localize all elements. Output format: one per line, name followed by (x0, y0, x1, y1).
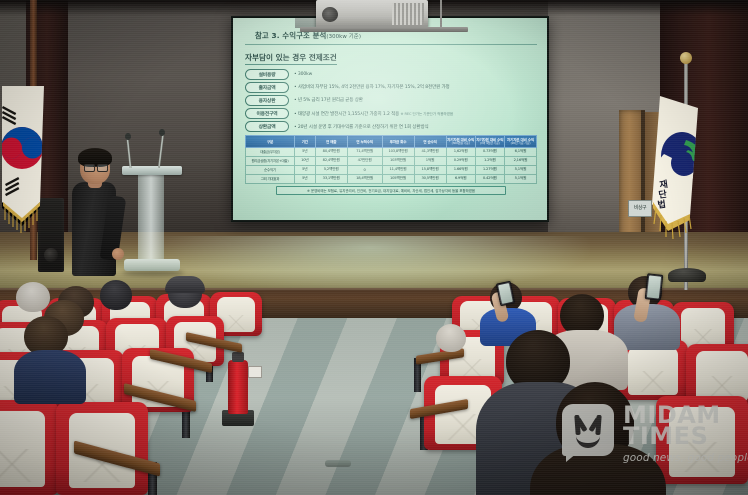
projector-lens-icon (322, 7, 338, 22)
table-cell: 대출금(무자본) (246, 147, 295, 156)
table-cell: 103,8백만원 (382, 147, 414, 156)
logo-m-glyph (573, 415, 603, 445)
table-row: 원리금상환(자기자본+대출) 10년 82,4백만원 47만단원 103백만원 … (246, 156, 537, 165)
person-head (436, 324, 466, 352)
logo-smile-icon (576, 430, 600, 448)
bullet-tag: 융자상환 (245, 95, 289, 106)
table-row: 대출금(무자본) 5년 80,4백만원 71,4백만원 103,8백만원 41,… (246, 147, 537, 156)
table-header-cell: 자기자본 대비 수익(20년 기준 기준) (504, 136, 536, 148)
table-cell: 71,4백만원 (347, 147, 382, 156)
bullet-text: • 태양광 시설 연간 발전시간 1,155시간 가중치 1.2 적용 ※ RE… (294, 111, 453, 117)
microphone-icon (125, 133, 131, 140)
table-cell: 1.27억원 (475, 165, 504, 174)
podium (122, 166, 182, 278)
bullet-text: • 년 5% 금리 17년 원리금 균등 상환 (294, 97, 363, 103)
table-cell: 원리금상환(자기자본+대출) (246, 156, 295, 165)
bullet-text: • 300kw (294, 72, 312, 77)
table-row: 순수익기 5년 5,2백만원 0 11,4백만원 15,8백만원 1.66억원 … (246, 165, 537, 174)
bullet-text-main: • 태양광 시설 연간 발전시간 1,155시간 가중치 1.2 적용 (294, 112, 399, 117)
table-cell: 2,16억원 (504, 156, 536, 165)
auditorium-photo: 비상구 참고 3. 수익구조 분석(300kw 기준) 자부담이 있는 경우 전… (0, 0, 748, 495)
table-row: 그외 기대효과 5년 33,1백만원 18,4백만원 105백만원 30,5백만… (246, 174, 537, 183)
table-header-cell: 연 매출 (315, 136, 347, 148)
flag-finial (680, 52, 692, 64)
slide-title-paren: (300kw 기준) (326, 34, 361, 40)
table-cell: 5년 (294, 147, 315, 156)
table-cell: 80,4백만원 (315, 147, 347, 156)
table-cell: 0 (347, 165, 382, 174)
person-head (100, 280, 132, 310)
watermark-line2: TIMES (623, 426, 748, 447)
table-cell: 0.73억원 (475, 147, 504, 156)
bullet-tag: 설비용량 (245, 69, 289, 80)
baseball-cap-icon (165, 276, 205, 293)
podium-base (124, 259, 180, 271)
slide-data-table: 구분 기간 연 매출 연 누적수익 투자금 회수 연 순수익 자기자본 대비 수… (245, 135, 537, 184)
flag-stand-base (668, 268, 706, 282)
table-cell: 5,1억원 (504, 165, 536, 174)
table-cell: 5년 (294, 174, 315, 183)
bullet-row: 융자상환 • 년 5% 금리 17년 원리금 균등 상환 (245, 95, 537, 106)
table-cell: 41,3백만원 (414, 147, 446, 156)
table-cell: 15,8백만원 (414, 165, 446, 174)
table-cell: 1.2억원 (475, 156, 504, 165)
bullet-row: 상환금액 • 20년 시설 운영 후 기대수익률 기준으로 산정하기 위한 연 … (245, 121, 537, 132)
table-header-cell: 자기자본 대비 수익(300만원 기준) (446, 136, 475, 148)
table-cell: 105백만원 (382, 174, 414, 183)
presenter-hand (112, 248, 124, 260)
extinguisher-valve (232, 352, 244, 362)
table-cell: 0.42억원 (475, 174, 504, 183)
bullet-row: 설비용량 • 300kw (245, 69, 537, 80)
projection-screen: 참고 3. 수익구조 분석(300kw 기준) 자부담이 있는 경우 전제조건 … (231, 16, 549, 222)
table-header-cell: 투자금 회수 (382, 136, 414, 148)
bullet-tag: 이용전구역 (245, 108, 289, 119)
table-cell: 1억원 (414, 156, 446, 165)
table-cell: 5,2백만원 (315, 165, 347, 174)
table-cell: 11,4백만원 (382, 165, 414, 174)
bullet-tag: 상환금액 (245, 121, 289, 132)
bullet-text: • 사업비의 자부담 15%, 4억 2천만원 융자 17%, 자기자본 15%… (294, 84, 450, 90)
slide-bullet-list: 설비용량 • 300kw 출자금액 • 사업비의 자부담 15%, 4억 2천만… (245, 69, 537, 133)
table-cell: 5,1억원 (504, 174, 536, 183)
fire-extinguisher (228, 360, 248, 414)
table-header-cell: 구분 (246, 136, 295, 148)
table-cell: 103백만원 (382, 156, 414, 165)
table-header-row: 구분 기간 연 매출 연 누적수익 투자금 회수 연 순수익 자기자본 대비 수… (246, 136, 537, 148)
exit-sign-label: 비상구 (634, 206, 646, 211)
table-cell: 33,1백만원 (315, 174, 347, 183)
table-header-cell: 기간 (294, 136, 315, 148)
bullet-row: 이용전구역 • 태양광 시설 연간 발전시간 1,155시간 가중치 1.2 적… (245, 108, 537, 119)
table-cell: 47만단원 (347, 156, 382, 165)
watermark: MIDAM TIMES good news, good people (562, 404, 748, 464)
table-header-cell: 연 순수익 (414, 136, 446, 148)
table-cell: 그외 기대효과 (246, 174, 295, 183)
table-cell: 6,1억원 (504, 147, 536, 156)
table-cell: 82,4백만원 (315, 156, 347, 165)
slide-title-main: 참고 3. 수익구조 분석 (255, 31, 326, 40)
projector-mount-rail (300, 27, 468, 32)
watermark-text: MIDAM TIMES good news, good people (623, 405, 748, 464)
microphone-icon-2 (159, 129, 165, 136)
table-cell: 10년 (294, 156, 315, 165)
watermark-tagline: good news, good people (623, 452, 748, 464)
bullet-text-note: ※ REC 단가는 기준단가 적용하였음 (401, 112, 454, 116)
title-divider (245, 44, 537, 45)
organization-flag: 재 단 법 (646, 88, 726, 248)
speaker-cone-icon (44, 248, 58, 262)
slide-footnote: ※ 운영비에는 보험료, 유지관리비, 인건비, 전기요금, 대지임대료, 예비… (276, 186, 506, 195)
table-header-cell: 자기자본 대비 수익(1억 4천만 기준) (475, 136, 504, 148)
table-cell: 6.9억원 (446, 174, 475, 183)
midam-logo-icon (562, 404, 614, 456)
bullet-row: 출자금액 • 사업비의 자부담 15%, 4억 2천만원 융자 17%, 자기자… (245, 82, 537, 93)
table-cell: 5년 (294, 165, 315, 174)
table-cell: 0.29억원 (446, 156, 475, 165)
smartphone (645, 273, 664, 301)
eyeglasses-icon (84, 164, 108, 170)
table-cell: 18,4백만원 (347, 174, 382, 183)
seat (0, 400, 58, 495)
projector-rod-right (440, 0, 442, 30)
table-cell: 1.66억원 (446, 165, 475, 174)
slide-subtitle: 자부담이 있는 경우 전제조건 (245, 52, 337, 65)
slide-content: 참고 3. 수익구조 분석(300kw 기준) 자부담이 있는 경우 전제조건 … (233, 18, 547, 220)
bullet-tag: 출자금액 (245, 82, 289, 93)
projector-vent-icon (392, 3, 424, 25)
table-cell: 1,62억원 (446, 147, 475, 156)
extinguisher-label (248, 366, 262, 378)
korean-national-flag (0, 86, 52, 236)
person-head (16, 282, 50, 312)
person-shoulders (14, 350, 86, 404)
podium-stem (138, 175, 164, 259)
table-cell: 순수익기 (246, 165, 295, 174)
table-cell: 30,5백만원 (414, 174, 446, 183)
bullet-text: • 20년 시설 운영 후 기대수익률 기준으로 산정하기 위한 연 1회 상환… (294, 124, 429, 130)
table-header-cell: 연 누적수익 (347, 136, 382, 148)
stage-light-pool (150, 236, 590, 294)
floor-vent-icon (325, 460, 351, 467)
